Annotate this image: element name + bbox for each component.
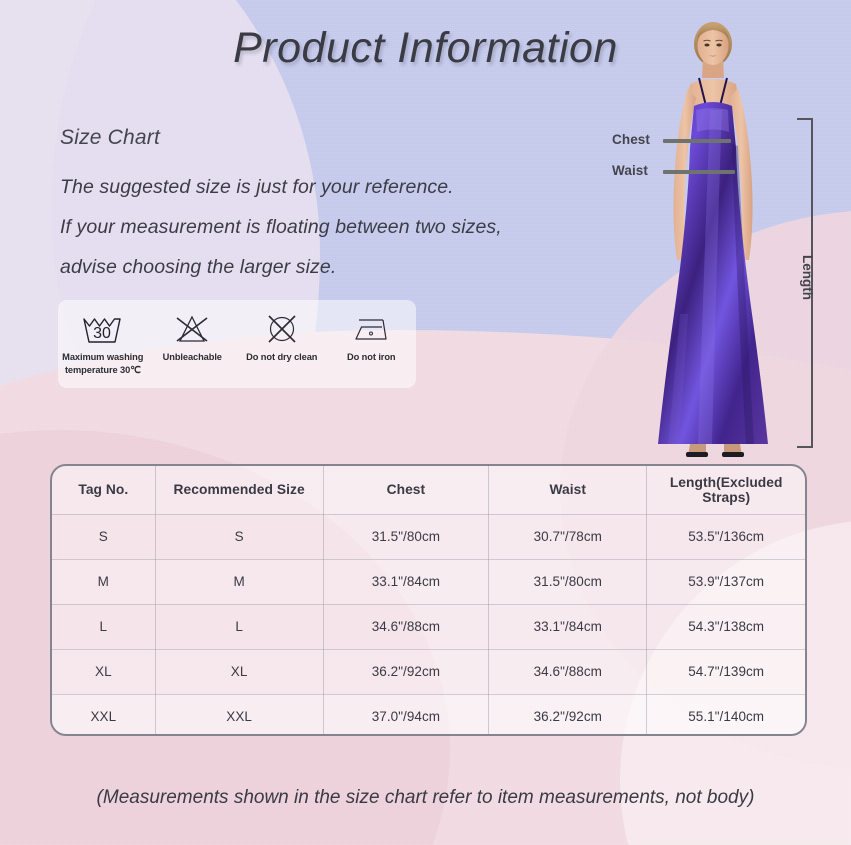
model-photo [628, 14, 798, 464]
care-item-dryclean: Do not dry clean [237, 300, 327, 364]
cell-chest: 37.0"/94cm [323, 694, 489, 736]
cell-tag-no: S [52, 514, 155, 559]
product-information-page: Product Information Size Chart The sugge… [0, 0, 851, 845]
cell-recommended-size: M [155, 559, 323, 604]
cell-tag-no: XL [52, 649, 155, 694]
cell-tag-no: L [52, 604, 155, 649]
table-row: XL XL 36.2"/92cm 34.6"/88cm 54.7"/139cm [52, 649, 805, 694]
table-header-row: Tag No. Recommended Size Chest Waist Len… [52, 466, 805, 514]
care-item-iron: Do not iron [327, 300, 417, 364]
copy-line-3: advise choosing the larger size. [60, 247, 502, 287]
cell-length: 54.7"/139cm [647, 649, 805, 694]
cell-chest: 31.5"/80cm [323, 514, 489, 559]
footer-note: (Measurements shown in the size chart re… [0, 787, 851, 809]
table-row: M M 33.1"/84cm 31.5"/80cm 53.9"/137cm [52, 559, 805, 604]
care-label-dryclean: Do not dry clean [246, 351, 317, 364]
cell-recommended-size: L [155, 604, 323, 649]
size-chart-table: Tag No. Recommended Size Chest Waist Len… [50, 464, 807, 736]
size-chart-heading: Size Chart [60, 126, 502, 150]
svg-text:30: 30 [93, 325, 111, 342]
copy-line-2: If your measurement is floating between … [60, 207, 502, 247]
length-measure-label: Length [800, 255, 815, 300]
care-label-iron: Do not iron [347, 351, 395, 364]
cell-tag-no: XXL [52, 694, 155, 736]
cell-length: 54.3"/138cm [647, 604, 805, 649]
no-iron-icon [348, 310, 394, 348]
care-label-bleach: Unbleachable [163, 351, 222, 364]
column-header-recommended-size: Recommended Size [155, 466, 323, 514]
table-row: L L 34.6"/88cm 33.1"/84cm 54.3"/138cm [52, 604, 805, 649]
copy-line-1: The suggested size is just for your refe… [60, 167, 502, 207]
column-header-chest: Chest [323, 466, 489, 514]
cell-waist: 30.7"/78cm [489, 514, 647, 559]
model-illustration [628, 14, 798, 464]
cell-length: 55.1"/140cm [647, 694, 805, 736]
column-header-length: Length(Excluded Straps) [647, 466, 805, 514]
cell-recommended-size: S [155, 514, 323, 559]
care-item-bleach: Unbleachable [148, 300, 238, 364]
chest-measure-label: Chest [612, 132, 650, 147]
wash-tub-30-icon: 30 [80, 310, 126, 348]
no-bleach-icon [171, 310, 213, 348]
column-header-tag-no: Tag No. [52, 466, 155, 514]
cell-waist: 34.6"/88cm [489, 649, 647, 694]
cell-length: 53.9"/137cm [647, 559, 805, 604]
cell-chest: 34.6"/88cm [323, 604, 489, 649]
column-header-waist: Waist [489, 466, 647, 514]
cell-waist: 36.2"/92cm [489, 694, 647, 736]
no-dry-clean-icon [262, 310, 302, 348]
cell-recommended-size: XL [155, 649, 323, 694]
waist-measure-label: Waist [612, 163, 648, 178]
table-row: S S 31.5"/80cm 30.7"/78cm 53.5"/136cm [52, 514, 805, 559]
page-title: Product Information [0, 24, 851, 73]
care-instructions-panel: 30 Maximum washingtemperature 30℃ Unblea… [58, 300, 416, 388]
cell-waist: 31.5"/80cm [489, 559, 647, 604]
care-label-wash: Maximum washingtemperature 30℃ [62, 351, 143, 376]
cell-length: 53.5"/136cm [647, 514, 805, 559]
chest-measure-bar [663, 139, 731, 143]
cell-chest: 36.2"/92cm [323, 649, 489, 694]
cell-tag-no: M [52, 559, 155, 604]
table-row: XXL XXL 37.0"/94cm 36.2"/92cm 55.1"/140c… [52, 694, 805, 736]
cell-waist: 33.1"/84cm [489, 604, 647, 649]
care-item-wash: 30 Maximum washingtemperature 30℃ [58, 300, 148, 376]
cell-recommended-size: XXL [155, 694, 323, 736]
waist-measure-bar [663, 170, 735, 174]
size-chart-copy: Size Chart The suggested size is just fo… [60, 126, 502, 287]
cell-chest: 33.1"/84cm [323, 559, 489, 604]
